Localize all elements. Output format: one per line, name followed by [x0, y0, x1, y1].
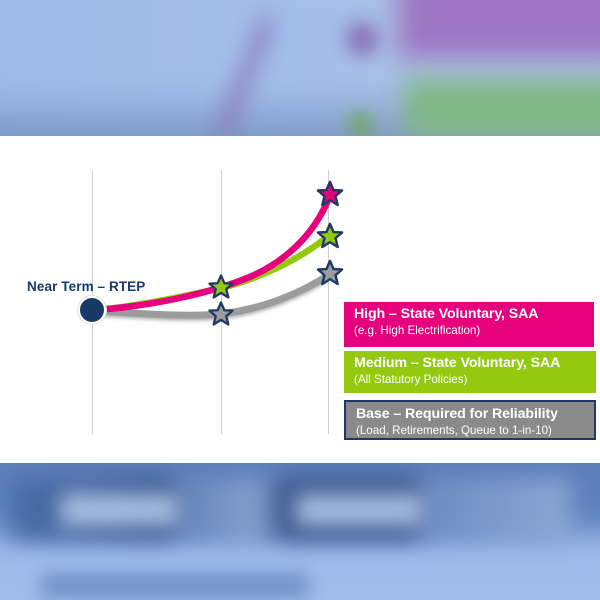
backdrop-planning-horizon-text	[40, 573, 310, 599]
backdrop-purple-box	[398, 0, 600, 58]
backdrop-green-box	[404, 78, 600, 136]
backdrop-knob-shape	[345, 22, 379, 56]
blurred-backdrop-bottom	[0, 463, 600, 600]
slide-stage: Near Term – RTEP High – State Voluntary,…	[0, 0, 600, 600]
blurred-backdrop-top	[0, 0, 600, 136]
backdrop-green-marker	[348, 112, 374, 136]
timeline-arrow-shape	[0, 272, 600, 463]
planning-horizon-timeline: Year 5 Year 8 Year 15 Planning Horizon	[0, 272, 600, 463]
slide-white-panel: Near Term – RTEP High – State Voluntary,…	[0, 136, 600, 463]
backdrop-year-chip-1	[60, 493, 178, 527]
star-marker-high-year15	[318, 182, 342, 205]
backdrop-year-chip-2	[295, 493, 423, 527]
